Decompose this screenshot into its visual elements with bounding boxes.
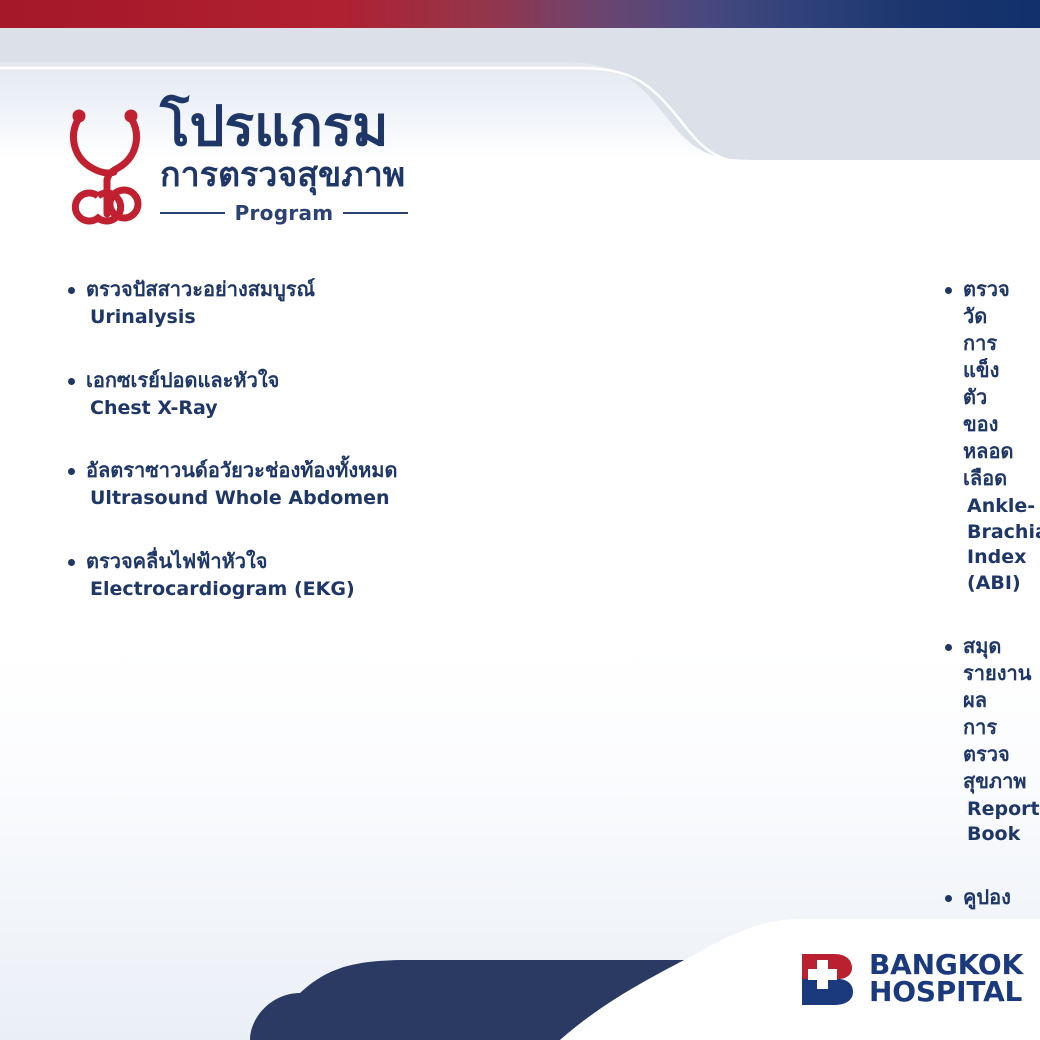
- bullet-dot-icon: [68, 378, 75, 385]
- service-name-th: สมุดรายงานผลการตรวจสุขภาพ: [945, 633, 963, 795]
- service-item: ตรวจปัสสาวะอย่างสมบูรณ์ Urinalysis: [68, 276, 470, 331]
- logo-line-2: HOSPITAL: [869, 979, 1023, 1006]
- service-item: ตรวจคลื่นไฟฟ้าหัวใจ Electrocardiogram (E…: [68, 548, 470, 603]
- service-name-en: Electrocardiogram (EKG): [68, 577, 470, 603]
- program-label: Program: [235, 201, 334, 225]
- bullet-dot-icon: [68, 559, 75, 566]
- service-name-en: Urinalysis: [68, 305, 470, 331]
- program-rule-row: Program: [160, 201, 408, 225]
- service-name-th: ตรวจปัสสาวะอย่างสมบูรณ์: [68, 276, 470, 303]
- service-name-th: ตรวจวัดการแข็งตัวของหลอดเลือด: [945, 276, 963, 492]
- service-name-th: อัลตราซาวนด์อวัยวะช่องท้องทั้งหมด: [68, 457, 470, 484]
- service-th-text: ตรวจปัสสาวะอย่างสมบูรณ์: [86, 277, 315, 301]
- page-title: โปรแกรม: [160, 100, 408, 152]
- page-subtitle: การตรวจสุขภาพ: [160, 154, 408, 197]
- service-name-th: เอกซเรย์ปอดและหัวใจ: [68, 367, 470, 394]
- service-name-en: Chest X-Ray: [68, 396, 470, 422]
- program-title-lockup: โปรแกรม การตรวจสุขภาพ Program: [62, 96, 408, 226]
- bullet-dot-icon: [945, 287, 952, 294]
- rule-right: [343, 212, 408, 214]
- health-checkup-program-poster: โปรแกรม การตรวจสุขภาพ Program ตรวจปัสสาว…: [0, 0, 1040, 1040]
- service-name-en: Ankle-Brachial Index (ABI): [945, 494, 967, 597]
- service-th-text: สมุดรายงานผลการตรวจสุขภาพ: [963, 634, 1031, 793]
- service-th-text: เอกซเรย์ปอดและหัวใจ: [86, 368, 279, 392]
- top-gradient-ribbon: [0, 0, 1040, 28]
- bullet-dot-icon: [68, 287, 75, 294]
- service-name-en: Report Book: [945, 797, 967, 848]
- bangkok-hospital-mark-icon: [798, 950, 856, 1008]
- service-name-th: ตรวจคลื่นไฟฟ้าหัวใจ: [68, 548, 470, 575]
- service-name-en: Ultrasound Whole Abdomen: [68, 486, 470, 512]
- bullet-dot-icon: [945, 895, 952, 902]
- service-th-text: ตรวจวัดการแข็งตัวของหลอดเลือด: [963, 277, 1013, 490]
- stethoscope-icon: [62, 96, 152, 226]
- service-th-text: อัลตราซาวนด์อวัยวะช่องท้องทั้งหมด: [86, 458, 397, 482]
- bullet-dot-icon: [945, 644, 952, 651]
- service-th-text: ตรวจคลื่นไฟฟ้าหัวใจ: [86, 549, 268, 573]
- bangkok-hospital-logo: BANGKOK HOSPITAL: [798, 950, 1023, 1008]
- service-item: เอกซเรย์ปอดและหัวใจ Chest X-Ray: [68, 367, 470, 422]
- service-item: อัลตราซาวนด์อวัยวะช่องท้องทั้งหมด Ultras…: [68, 457, 470, 512]
- bullet-dot-icon: [68, 468, 75, 475]
- rule-left: [160, 212, 225, 214]
- bangkok-hospital-wordmark: BANGKOK HOSPITAL: [869, 952, 1023, 1006]
